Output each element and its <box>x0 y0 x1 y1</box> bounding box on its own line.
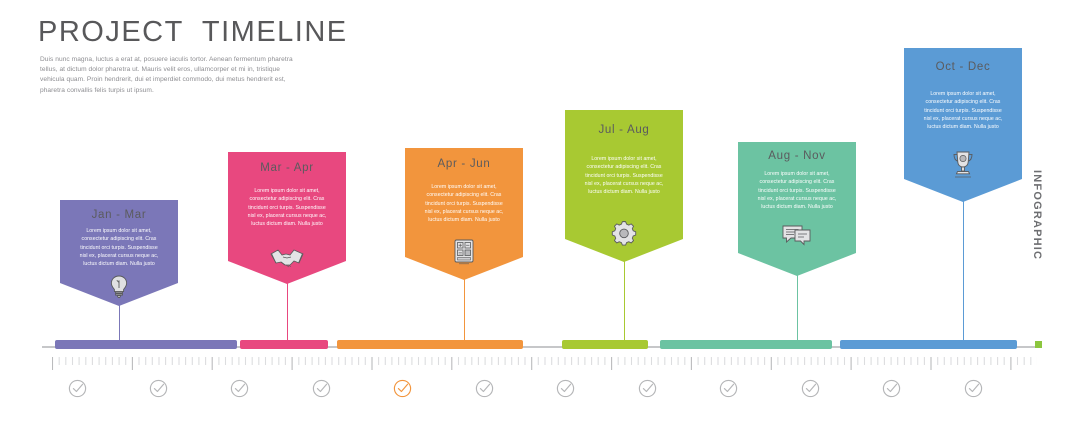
milestone-banner-mar-apr[interactable]: Mar - Apr Lorem ipsum dolor sit amet, co… <box>228 152 346 284</box>
timeline-ruler <box>52 356 1037 372</box>
banner-pennant-shape <box>565 110 683 262</box>
segment-mar-apr[interactable] <box>240 340 328 349</box>
checkmark-icon[interactable] <box>393 379 412 398</box>
segment-apr-jun[interactable] <box>337 340 523 349</box>
banner-pennant-shape <box>738 142 856 276</box>
axis-end-marker <box>1035 341 1042 348</box>
checkmark-icon[interactable] <box>556 379 575 398</box>
segment-oct-dec[interactable] <box>840 340 1017 349</box>
banner-shape-wrapper: Oct - Dec Lorem ipsum dolor sit amet, co… <box>904 48 1022 202</box>
milestone-banner-oct-dec[interactable]: Oct - Dec Lorem ipsum dolor sit amet, co… <box>904 48 1022 202</box>
banner-shape-wrapper: Jul - Aug Lorem ipsum dolor sit amet, co… <box>565 110 683 262</box>
checkmark-icon[interactable] <box>638 379 657 398</box>
checkmark-icon[interactable] <box>801 379 820 398</box>
checkmark-icon[interactable] <box>230 379 249 398</box>
stem-aug-nov <box>797 275 798 347</box>
page-subtitle: Duis nunc magna, luctus a erat at, posue… <box>40 55 302 96</box>
milestone-banner-jan-mar[interactable]: Jan - Mar Lorem ipsum dolor sit amet, co… <box>60 200 178 306</box>
checkmark-icon[interactable] <box>475 379 494 398</box>
stem-apr-jun <box>464 278 465 347</box>
checkmark-icon[interactable] <box>149 379 168 398</box>
banner-pennant-shape <box>228 152 346 284</box>
segment-jul-aug[interactable] <box>562 340 648 349</box>
checkmark-icon[interactable] <box>719 379 738 398</box>
ruler-ticks <box>52 356 1037 372</box>
stem-mar-apr <box>287 283 288 347</box>
banner-shape-wrapper: Mar - Apr Lorem ipsum dolor sit amet, co… <box>228 152 346 284</box>
stem-jul-aug <box>624 260 625 347</box>
milestone-banner-apr-jun[interactable]: Apr - Jun Lorem ipsum dolor sit amet, co… <box>405 148 523 280</box>
checkmark-icon[interactable] <box>68 379 87 398</box>
segment-jan-mar[interactable] <box>55 340 237 349</box>
banner-pennant-shape <box>60 200 178 306</box>
banner-pennant-shape <box>904 48 1022 202</box>
milestone-banner-jul-aug[interactable]: Jul - Aug Lorem ipsum dolor sit amet, co… <box>565 110 683 262</box>
stem-oct-dec <box>963 200 964 347</box>
banner-pennant-shape <box>405 148 523 280</box>
banner-shape-wrapper: Jan - Mar Lorem ipsum dolor sit amet, co… <box>60 200 178 306</box>
milestone-banner-aug-nov[interactable]: Aug - Nov Lorem ipsum dolor sit amet, co… <box>738 142 856 276</box>
infographic-side-label: INFOGRAPHIC <box>1031 170 1043 280</box>
checkmark-icon[interactable] <box>964 379 983 398</box>
page-title: PROJECT TIMELINE <box>38 16 348 49</box>
segment-aug-nov[interactable] <box>660 340 832 349</box>
checkmark-icon[interactable] <box>882 379 901 398</box>
infographic-canvas: PROJECT TIMELINE Duis nunc magna, luctus… <box>0 0 1080 432</box>
checkmark-icon[interactable] <box>312 379 331 398</box>
banner-shape-wrapper: Apr - Jun Lorem ipsum dolor sit amet, co… <box>405 148 523 280</box>
banner-shape-wrapper: Aug - Nov Lorem ipsum dolor sit amet, co… <box>738 142 856 276</box>
